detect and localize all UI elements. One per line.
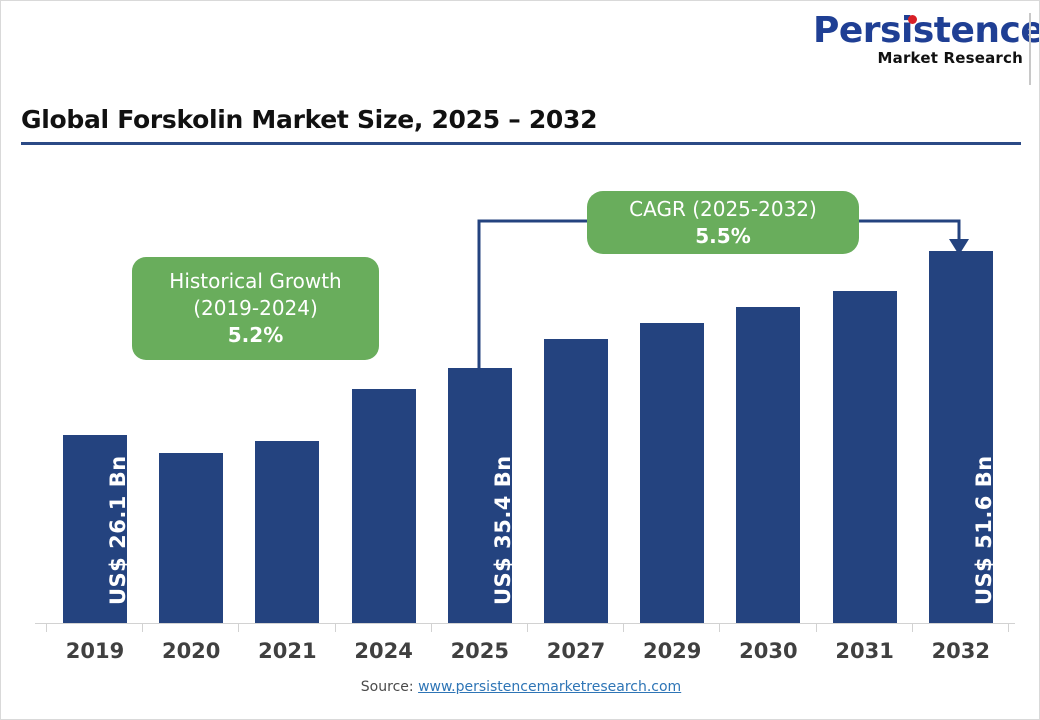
x-axis-tick-2029 xyxy=(623,623,624,632)
x-axis-tick-2020 xyxy=(142,623,143,632)
source-link[interactable]: www.persistencemarketresearch.com xyxy=(418,679,681,695)
x-axis-label-2032: 2032 xyxy=(911,639,1011,663)
x-axis-line xyxy=(35,623,1015,624)
callout-historical-line2: (2019-2024) xyxy=(193,295,318,321)
x-axis-label-2030: 2030 xyxy=(718,639,818,663)
source-label: Source: xyxy=(361,679,418,695)
chart-page: Persistence Market Research Global Forsk… xyxy=(0,0,1040,720)
callout-cagr-line1: CAGR (2025-2032) xyxy=(629,196,817,222)
bar-2030 xyxy=(736,307,800,623)
x-axis-tick-2019 xyxy=(46,623,47,632)
bar-value-label-2032: US$ 51.6 Bn xyxy=(972,455,996,605)
x-axis-label-2031: 2031 xyxy=(815,639,915,663)
bar-2027 xyxy=(544,339,608,623)
x-axis-tick-2030 xyxy=(719,623,720,632)
x-axis-tick-2025 xyxy=(431,623,432,632)
bar-2031 xyxy=(833,291,897,623)
x-axis-label-2024: 2024 xyxy=(334,639,434,663)
callout-cagr-value: 5.5% xyxy=(695,223,750,249)
x-axis-label-2027: 2027 xyxy=(526,639,626,663)
bar-2029 xyxy=(640,323,704,623)
x-axis-tick-2032 xyxy=(912,623,913,632)
x-axis-tick-2021 xyxy=(238,623,239,632)
bar-2020 xyxy=(159,453,223,623)
x-axis-tick-2024 xyxy=(335,623,336,632)
x-axis-tick-end xyxy=(1008,623,1009,632)
x-axis-tick-2027 xyxy=(527,623,528,632)
source-line: Source: www.persistencemarketresearch.co… xyxy=(1,679,1040,695)
bar-value-label-2025: US$ 35.4 Bn xyxy=(491,455,515,605)
x-axis-label-2021: 2021 xyxy=(237,639,337,663)
x-axis-label-2020: 2020 xyxy=(141,639,241,663)
callout-historical-growth: Historical Growth (2019-2024) 5.2% xyxy=(132,257,379,360)
x-axis-label-2029: 2029 xyxy=(622,639,722,663)
x-axis-label-2025: 2025 xyxy=(430,639,530,663)
bar-value-label-2019: US$ 26.1 Bn xyxy=(106,455,130,605)
bar-2024 xyxy=(352,389,416,623)
x-axis-label-2019: 2019 xyxy=(45,639,145,663)
callout-historical-line1: Historical Growth xyxy=(169,268,341,294)
bar-2021 xyxy=(255,441,319,623)
callout-cagr: CAGR (2025-2032) 5.5% xyxy=(587,191,859,254)
x-axis-tick-2031 xyxy=(816,623,817,632)
callout-historical-value: 5.2% xyxy=(228,322,283,348)
plot-area: US$ 26.1 Bn2019202020212024US$ 35.4 Bn20… xyxy=(1,1,1040,720)
